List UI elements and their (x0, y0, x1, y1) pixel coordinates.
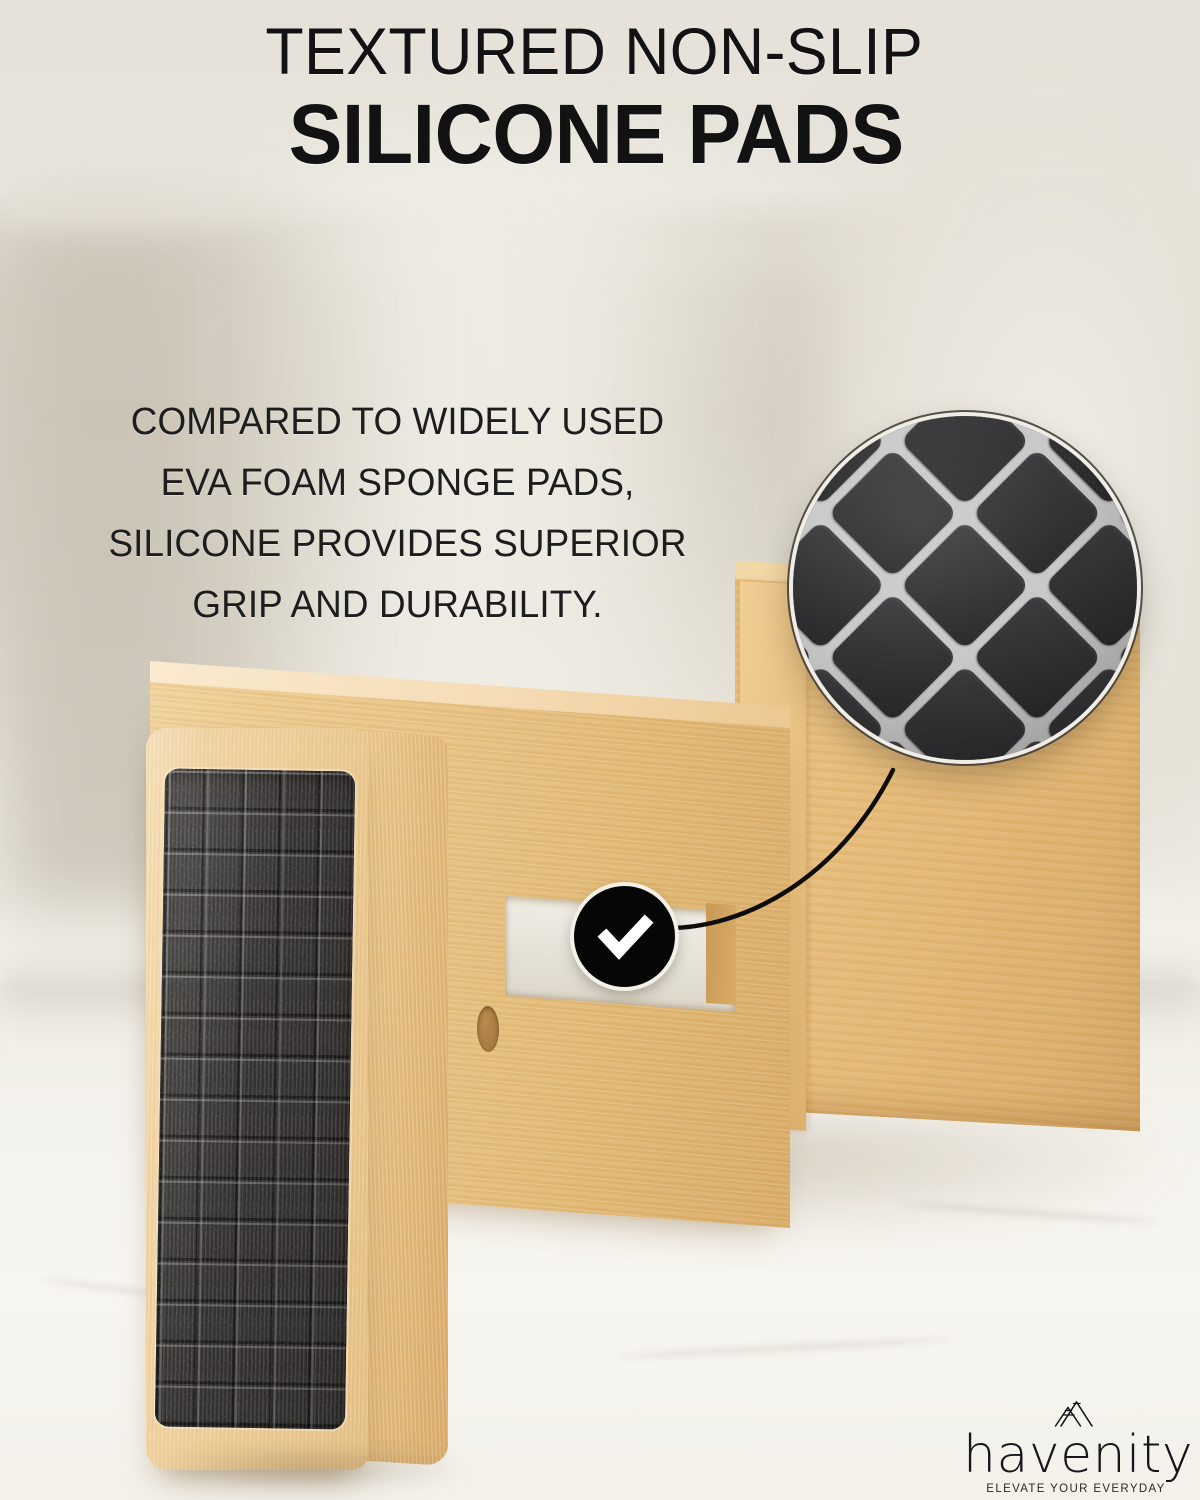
product-marketing-image: TEXTURED NON-SLIP SILICONE PADS COMPARED… (0, 0, 1200, 1500)
headline-line-2: SILICONE PADS (24, 90, 1176, 178)
headline-line-1: TEXTURED NON-SLIP (30, 12, 1170, 90)
end-block-front-face (146, 728, 368, 1470)
pad-waffle-grid (155, 769, 355, 1430)
pad-lighting-overlay (155, 769, 355, 1430)
peg-hole (477, 1005, 499, 1053)
magnifier-vignette (793, 416, 1137, 760)
body-copy-line-3: SILICONE PROVIDES SUPERIOR (22, 514, 774, 575)
body-copy-line-1: COMPARED TO WIDELY USED (22, 392, 774, 453)
brand-name: havenity (963, 1430, 1189, 1480)
headline: TEXTURED NON-SLIP SILICONE PADS (0, 12, 1200, 178)
body-copy-line-2: EVA FOAM SPONGE PADS, (22, 453, 774, 514)
check-badge (574, 886, 675, 987)
textured-silicone-pad (155, 769, 355, 1430)
body-copy-line-4: GRIP AND DURABILITY. (22, 575, 774, 636)
end-block-floor-shadow (150, 1452, 470, 1492)
check-icon (594, 906, 656, 968)
magnifier-circle (793, 416, 1137, 760)
pad-surface-grain (155, 769, 355, 1430)
expansion-slot-edge (706, 903, 736, 1005)
brand-tagline: ELEVATE YOUR EVERYDAY (963, 1483, 1189, 1495)
divider-end-block (146, 728, 446, 1473)
body-copy: COMPARED TO WIDELY USED EVA FOAM SPONGE … (10, 392, 785, 636)
brand-logo: havenity ELEVATE YOUR EVERYDAY (963, 1398, 1189, 1495)
